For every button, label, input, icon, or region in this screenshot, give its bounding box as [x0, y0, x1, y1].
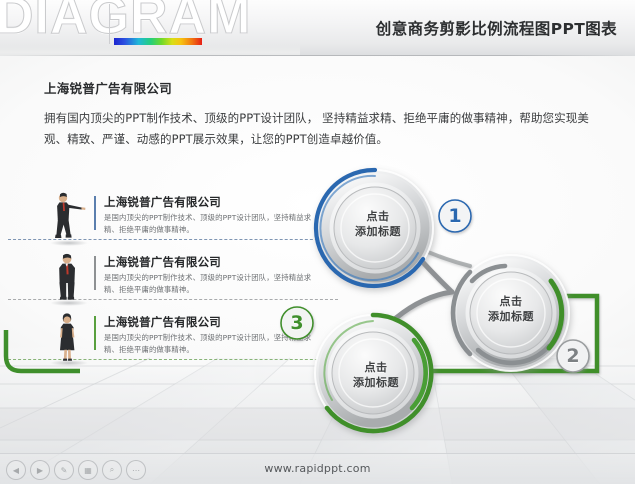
list-item-title: 上海锐普广告有限公司: [104, 254, 221, 270]
watermark-fade-mask: [0, 44, 300, 56]
list-item-title: 上海锐普广告有限公司: [104, 314, 221, 330]
accent-bar: [94, 256, 96, 290]
flow-circle-3-label[interactable]: 点击 添加标题: [316, 360, 436, 390]
flow-circle-1-label[interactable]: 点击 添加标题: [318, 209, 438, 239]
accent-bar: [94, 196, 96, 230]
footer-url: www.rapidppt.com: [0, 462, 635, 475]
circle-3-line1: 点击: [316, 360, 436, 375]
circle-2-line2: 添加标题: [451, 309, 571, 324]
figure-shadow: [50, 240, 88, 246]
slide-header: DIAGRAM 创意商务剪影比例流程图PPT图表: [0, 0, 635, 56]
intro-block: 上海锐普广告有限公司 拥有国内顶尖的PPT制作技术、顶级的PPT设计团队， 坚持…: [44, 78, 604, 150]
list-item[interactable]: 上海锐普广告有限公司 是国内顶尖的PPT制作技术、顶级的PPT设计团队，坚持精益…: [44, 312, 304, 368]
intro-body-text: 拥有国内顶尖的PPT制作技术、顶级的PPT设计团队， 坚持精益求精、拒绝平庸的做…: [44, 108, 604, 150]
flow-badge-2-number: 2: [559, 342, 587, 370]
flow-badge-1-number: 1: [441, 202, 469, 230]
circle-1-line1: 点击: [318, 209, 438, 224]
circle-2-line1: 点击: [451, 294, 571, 309]
businesswoman-standing-silhouette-icon: [48, 312, 90, 364]
circle-1-line2: 添加标题: [318, 224, 438, 239]
figure-shadow: [50, 360, 88, 366]
figure-shadow: [50, 300, 88, 306]
flow-badge-3-number: 3: [283, 309, 311, 337]
flow-circle-2-label[interactable]: 点击 添加标题: [451, 294, 571, 324]
page-title: 创意商务剪影比例流程图PPT图表: [376, 17, 617, 39]
list-item[interactable]: 上海锐普广告有限公司 是国内顶尖的PPT制作技术、顶级的PPT设计团队，坚持精益…: [44, 252, 304, 308]
businessman-standing-silhouette-icon: [48, 252, 90, 304]
list-item-description: 是国内顶尖的PPT制作技术、顶级的PPT设计团队，坚持精益求精、拒绝平庸的做事精…: [104, 272, 314, 295]
list-item-description: 是国内顶尖的PPT制作技术、顶级的PPT设计团队，坚持精益求精、拒绝平庸的做事精…: [104, 212, 314, 235]
rainbow-gradient-bar: [114, 38, 202, 45]
accent-bar: [94, 316, 96, 350]
slide-footer: ◀ ▶ ✎ ▦ ⌕ ⋯ www.rapidppt.com: [0, 453, 635, 484]
intro-title: 上海锐普广告有限公司: [44, 78, 604, 97]
list-item-title: 上海锐普广告有限公司: [104, 194, 221, 210]
businessman-leaning-silhouette-icon: [48, 192, 90, 244]
header-divider: [109, 4, 110, 44]
list-item[interactable]: 上海锐普广告有限公司 是国内顶尖的PPT制作技术、顶级的PPT设计团队，坚持精益…: [44, 192, 304, 248]
presentation-slide: DIAGRAM 创意商务剪影比例流程图PPT图表 上海锐普广告有限公司 拥有国内…: [0, 0, 635, 484]
circle-3-line2: 添加标题: [316, 375, 436, 390]
